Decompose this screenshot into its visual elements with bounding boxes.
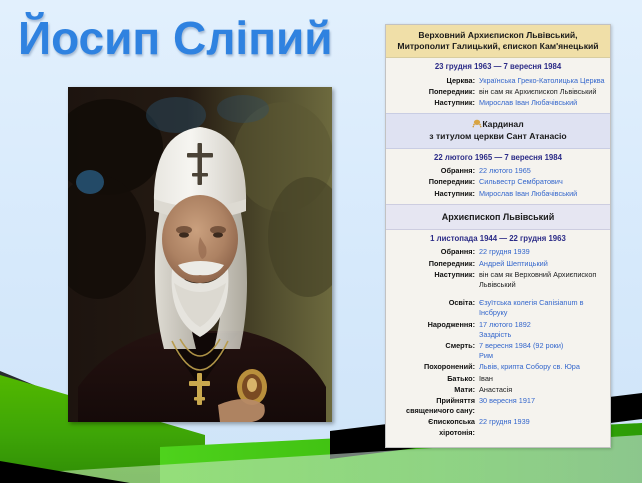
row-value-secondary[interactable]: Заздрість	[479, 330, 605, 340]
row-value[interactable]: Сильвестр Сембратович	[479, 177, 605, 187]
slide-canvas: Йосип Сліпий	[0, 0, 642, 483]
row-label: Попередник:	[391, 87, 479, 97]
table-row: Батько: Іван	[391, 374, 605, 384]
row-value[interactable]: 22 грудня 1939	[479, 247, 605, 257]
table-row: Єпископська хіротонія: 22 грудня 1939	[391, 417, 605, 437]
row-value: Іван	[479, 374, 605, 384]
row-value: Анастасія	[479, 385, 605, 395]
row-value[interactable]: Мирослав Іван Любачівський	[479, 98, 605, 108]
row-label: Похоронений:	[391, 362, 479, 372]
table-row: Освіта: Єзуїтська колегія Canisianum в І…	[391, 298, 605, 318]
table-row: Попередник: він сам як Архиєпископ Львів…	[391, 87, 605, 97]
row-label: Обрання:	[391, 166, 479, 176]
row-label: Обрання:	[391, 247, 479, 257]
table-row: Мати: Анастасія	[391, 385, 605, 395]
portrait-photo	[68, 87, 332, 422]
table-row: Народження: 17 лютого 1892 Заздрість	[391, 320, 605, 340]
infobox-section3-rows: Обрання: 22 грудня 1939 Попередник: Андр…	[386, 247, 610, 295]
row-label: Мати:	[391, 385, 479, 395]
table-row: Наступник: Мирослав Іван Любачівський	[391, 98, 605, 108]
table-row: Обрання: 22 грудня 1939	[391, 247, 605, 257]
table-row: Наступник: Мирослав Іван Любачівський	[391, 189, 605, 199]
row-value[interactable]: 7 вересня 1984 (92 роки)	[479, 341, 605, 351]
infobox-section3-header: Архиєпископ Львівський	[386, 204, 610, 230]
row-label: Наступник:	[391, 270, 479, 280]
cardinal-galero-icon	[472, 119, 480, 126]
row-value-group: 7 вересня 1984 (92 роки) Рим	[479, 341, 605, 361]
table-row: Обрання: 22 лютого 1965	[391, 166, 605, 176]
row-label: Єпископська хіротонія:	[391, 417, 479, 437]
row-value: він сам як Архиєпископ Львівський	[479, 87, 605, 97]
infobox-section3-dates: 1 листопада 1944 — 22 грудня 1963	[386, 230, 610, 248]
row-value[interactable]: 22 лютого 1965	[479, 166, 605, 176]
table-row: Смерть: 7 вересня 1984 (92 роки) Рим	[391, 341, 605, 361]
row-label: Попередник:	[391, 259, 479, 269]
infobox-section2-rows: Обрання: 22 лютого 1965 Попередник: Силь…	[386, 166, 610, 204]
row-value-secondary[interactable]: Рим	[479, 351, 605, 361]
row-label: Церква:	[391, 76, 479, 86]
row-label: Прийняття священичого сану:	[391, 396, 479, 416]
wikipedia-infobox: Верховний Архиєпископ Львівський, Митроп…	[385, 24, 611, 448]
row-label: Наступник:	[391, 189, 479, 199]
row-label: Наступник:	[391, 98, 479, 108]
row-value[interactable]: Мирослав Іван Любачівський	[479, 189, 605, 199]
infobox-footer-spacer	[386, 443, 610, 447]
table-row: Прийняття священичого сану: 30 вересня 1…	[391, 396, 605, 416]
infobox-section2-header: Кардинал з титулом церкви Сант Атанасіо	[386, 113, 610, 148]
row-label: Попередник:	[391, 177, 479, 187]
row-value[interactable]: Єзуїтська колегія Canisianum в Інсбруку	[479, 298, 605, 318]
row-label: Народження:	[391, 320, 479, 330]
table-row: Похоронений: Львів, крипта Собору св. Юр…	[391, 362, 605, 372]
infobox-details-rows: Освіта: Єзуїтська колегія Canisianum в І…	[386, 295, 610, 443]
row-value[interactable]: 30 вересня 1917	[479, 396, 605, 406]
infobox-section2-header-line1: Кардинал	[482, 119, 523, 129]
table-row: Наступник: він сам як Верховний Архиєпис…	[391, 270, 605, 290]
row-value-group: 17 лютого 1892 Заздрість	[479, 320, 605, 340]
infobox-section1-dates: 23 грудня 1963 — 7 вересня 1984	[386, 58, 610, 76]
row-label: Освіта:	[391, 298, 479, 308]
infobox-section1-rows: Церква: Українська Греко-Католицька Церк…	[386, 76, 610, 114]
infobox-section2-dates: 22 лютого 1965 — 7 вересня 1984	[386, 149, 610, 167]
portrait-photo-svg	[68, 87, 332, 422]
row-value[interactable]: Українська Греко-Католицька Церква	[479, 76, 605, 86]
row-label: Смерть:	[391, 341, 479, 351]
row-value[interactable]: Андрей Шептицький	[479, 259, 605, 269]
row-value: він сам як Верховний Архиєпископ Львівсь…	[479, 270, 605, 290]
table-row: Попередник: Андрей Шептицький	[391, 259, 605, 269]
row-value[interactable]: 17 лютого 1892	[479, 320, 605, 330]
table-row: Церква: Українська Греко-Католицька Церк…	[391, 76, 605, 86]
infobox-section2-header-line2: з титулом церкви Сант Атанасіо	[392, 131, 604, 143]
page-title: Йосип Сліпий	[18, 14, 368, 62]
table-row: Попередник: Сильвестр Сембратович	[391, 177, 605, 187]
infobox-section1-header: Верховний Архиєпископ Львівський, Митроп…	[386, 25, 610, 58]
row-value[interactable]: Львів, крипта Собору св. Юра	[479, 362, 605, 372]
row-label: Батько:	[391, 374, 479, 384]
row-value[interactable]: 22 грудня 1939	[479, 417, 605, 427]
